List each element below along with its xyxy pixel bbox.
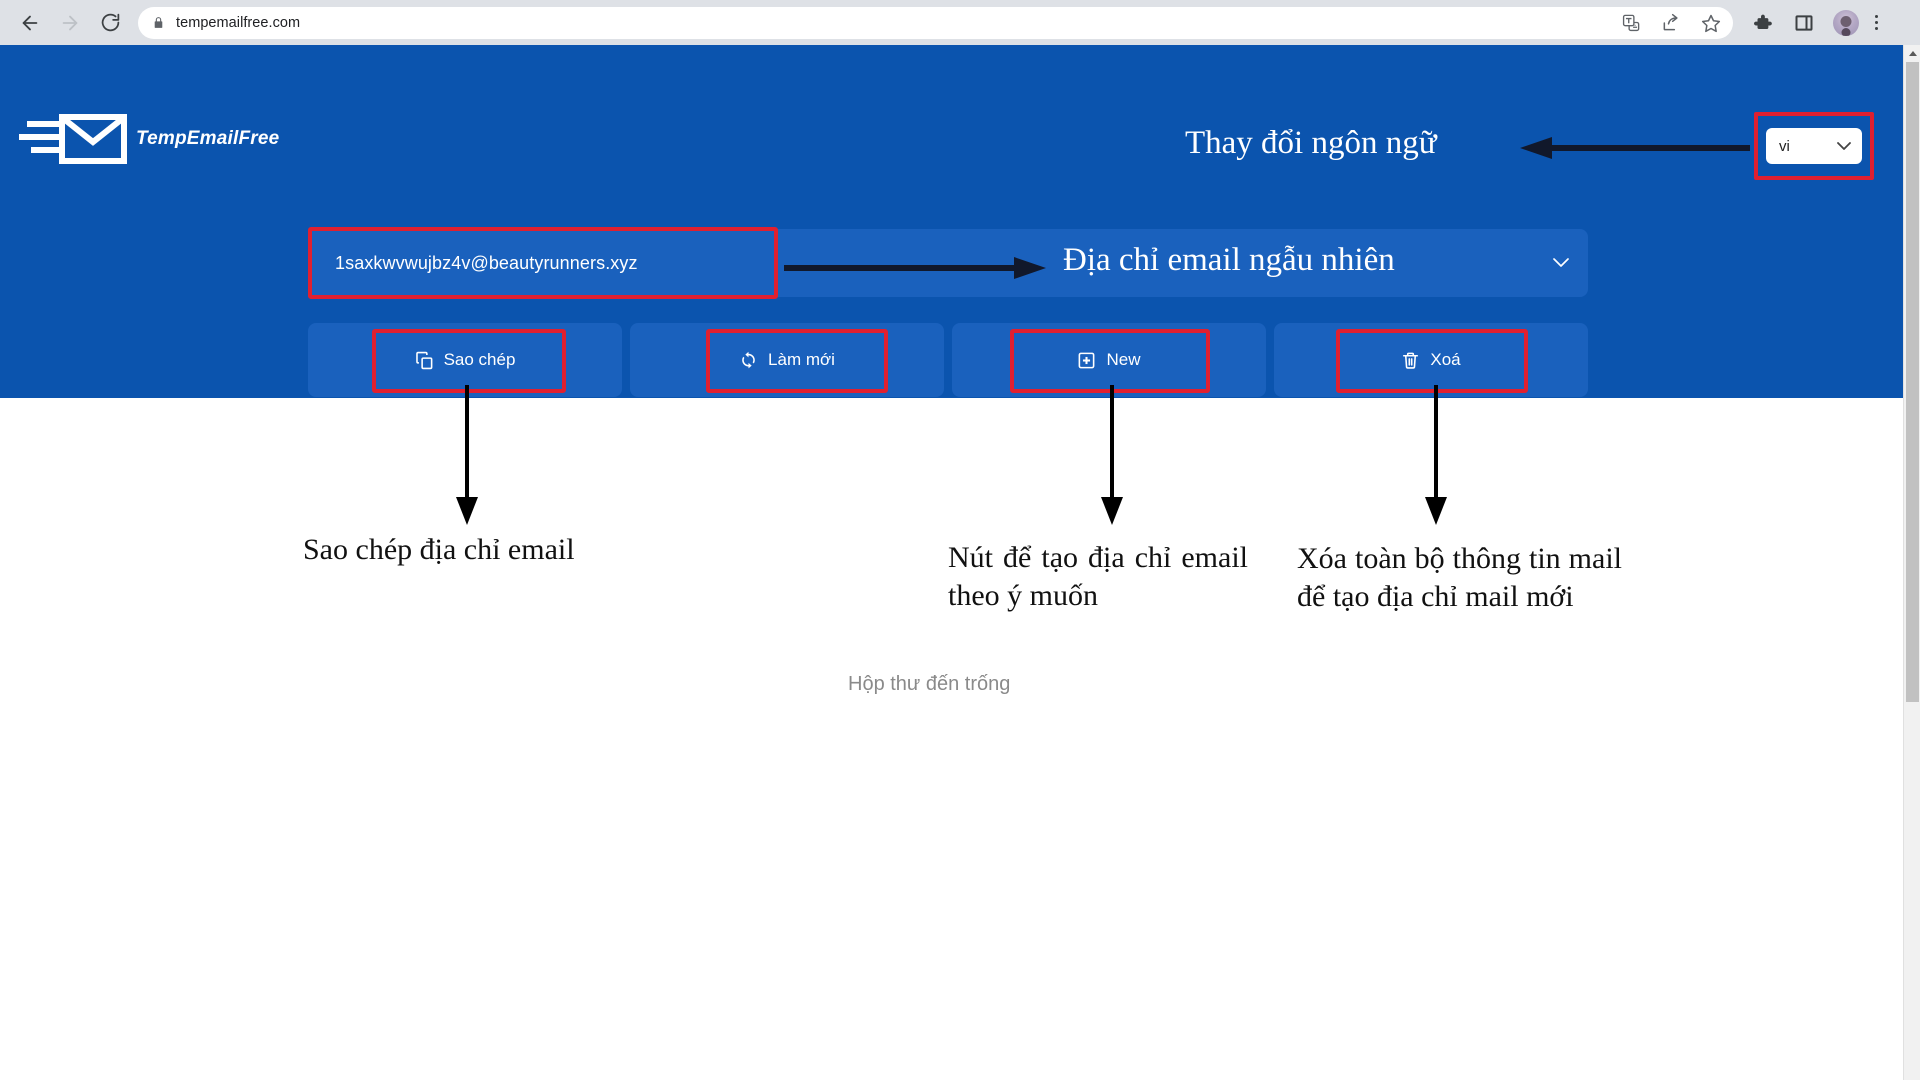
chevron-down-icon[interactable] [1553, 255, 1569, 273]
scrollbar-thumb[interactable] [1906, 62, 1919, 702]
scroll-up-button[interactable] [1904, 45, 1920, 62]
envelope-speed-icon [18, 111, 130, 167]
lock-icon [152, 15, 165, 30]
highlight-box-language [1754, 112, 1874, 180]
site-header: TempEmailFree Thay đổi ngôn ngữ vi 1saxk… [0, 45, 1903, 398]
highlight-box-new [1010, 329, 1210, 393]
arrow-to-language-select [1520, 137, 1750, 164]
page-viewport: TempEmailFree Thay đổi ngôn ngữ vi 1saxk… [0, 45, 1920, 1080]
share-icon[interactable] [1659, 11, 1683, 35]
page-scrollbar[interactable] [1903, 45, 1920, 1080]
highlight-box-email [308, 227, 778, 299]
site-logo[interactable]: TempEmailFree [18, 111, 279, 167]
highlight-box-copy [372, 329, 566, 393]
url-text: tempemailfree.com [176, 15, 300, 31]
highlight-box-refresh [706, 329, 888, 393]
site-logo-text: TempEmailFree [136, 128, 279, 150]
profile-avatar[interactable] [1833, 10, 1859, 36]
puzzle-piece-icon[interactable] [1749, 10, 1775, 36]
extension-icons [1733, 10, 1890, 36]
empty-inbox-message: Hộp thư đến trống [848, 673, 1010, 696]
translate-icon[interactable] [1619, 11, 1643, 35]
three-dot-menu-icon[interactable] [1875, 15, 1878, 30]
annotation-new: Nút để tạo địa chỉ email theo ý muốn [948, 539, 1248, 615]
navigation-buttons [0, 5, 128, 41]
reload-icon[interactable] [92, 5, 128, 41]
highlight-box-delete [1336, 329, 1528, 393]
language-label: Thay đổi ngôn ngữ [1185, 125, 1437, 162]
arrow-to-address-select [784, 257, 1046, 284]
star-icon[interactable] [1699, 11, 1723, 35]
forward-arrow-icon[interactable] [52, 5, 88, 41]
arrow-to-delete-annotation [1424, 385, 1448, 530]
address-bar[interactable]: tempemailfree.com [138, 7, 1733, 39]
side-panel-icon[interactable] [1791, 10, 1817, 36]
arrow-to-copy-annotation [455, 385, 479, 530]
arrow-to-new-annotation [1100, 385, 1124, 530]
omnibox-actions [1619, 7, 1723, 39]
address-mode-select-label[interactable]: Địa chỉ email ngẫu nhiên [1063, 242, 1395, 279]
annotation-delete: Xóa toàn bộ thông tin mail để tạo địa ch… [1297, 540, 1622, 616]
annotation-copy: Sao chép địa chỉ email [303, 531, 633, 569]
back-arrow-icon[interactable] [12, 5, 48, 41]
browser-toolbar: tempemailfree.com [0, 0, 1920, 45]
